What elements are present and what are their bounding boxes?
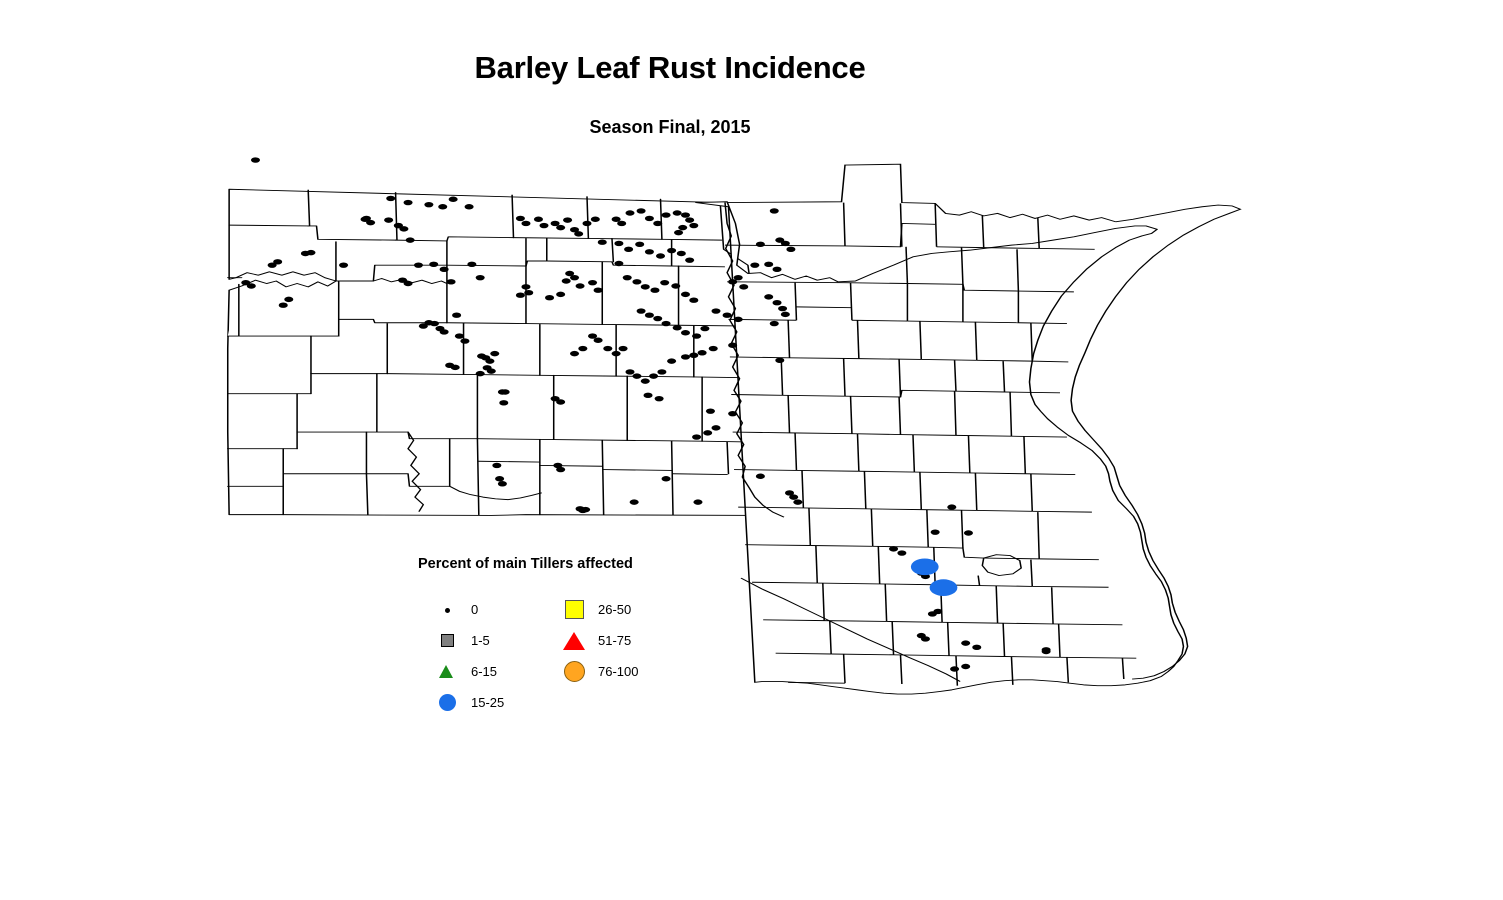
data-point-zero[interactable] xyxy=(581,507,590,512)
data-point-zero[interactable] xyxy=(635,242,644,247)
data-point-zero[interactable] xyxy=(578,346,587,351)
data-point-zero[interactable] xyxy=(524,290,533,295)
legend-item-51-75[interactable]: 51-75 xyxy=(563,625,638,656)
data-point-zero[interactable] xyxy=(574,231,583,236)
data-point-zero[interactable] xyxy=(588,280,597,285)
data-point-zero[interactable] xyxy=(498,481,507,486)
legend-item-label: 1-5 xyxy=(471,633,490,648)
data-point-zero[interactable] xyxy=(889,546,898,551)
data-point-zero[interactable] xyxy=(603,346,612,351)
data-point-zero[interactable] xyxy=(770,321,779,326)
data-point-zero[interactable] xyxy=(739,284,748,289)
data-point-zero[interactable] xyxy=(637,308,646,313)
data-point-15-25[interactable] xyxy=(911,558,939,575)
small-black-dot-icon xyxy=(436,597,462,623)
mn-county-line xyxy=(935,203,936,246)
data-point-zero[interactable] xyxy=(693,499,702,504)
data-point-zero[interactable] xyxy=(662,476,671,481)
data-point-zero[interactable] xyxy=(706,408,715,413)
data-point-zero[interactable] xyxy=(476,371,485,376)
data-point-zero[interactable] xyxy=(490,351,499,356)
data-point-zero[interactable] xyxy=(723,313,732,318)
data-point-zero[interactable] xyxy=(671,283,680,288)
data-point-zero[interactable] xyxy=(339,262,348,267)
data-point-zero[interactable] xyxy=(570,275,579,280)
data-point-zero[interactable] xyxy=(756,242,765,247)
data-point-zero[interactable] xyxy=(700,326,709,331)
page-subtitle: Season Final, 2015 xyxy=(0,117,1340,138)
data-point-zero[interactable] xyxy=(306,250,315,255)
lake-superior-shore xyxy=(1091,205,1241,339)
data-point-zero[interactable] xyxy=(950,666,959,671)
data-point-zero[interactable] xyxy=(734,317,743,322)
data-point-zero[interactable] xyxy=(645,216,654,221)
legend-item-26-50[interactable]: 26-50 xyxy=(563,594,638,625)
data-point-zero[interactable] xyxy=(662,321,671,326)
data-point-zero[interactable] xyxy=(778,306,787,311)
data-point-zero[interactable] xyxy=(650,287,659,292)
data-point-zero[interactable] xyxy=(649,373,658,378)
data-point-zero[interactable] xyxy=(404,281,413,286)
data-point-zero[interactable] xyxy=(1042,649,1051,654)
data-point-zero[interactable] xyxy=(786,247,795,252)
data-point-zero[interactable] xyxy=(775,358,784,363)
data-point-zero[interactable] xyxy=(588,333,597,338)
data-point-zero[interactable] xyxy=(438,204,447,209)
data-point-zero[interactable] xyxy=(487,368,496,373)
data-point-zero[interactable] xyxy=(657,369,666,374)
data-point-zero[interactable] xyxy=(711,425,720,430)
data-point-zero[interactable] xyxy=(476,275,485,280)
data-point-zero[interactable] xyxy=(366,220,375,225)
yellow-square-icon xyxy=(563,597,589,623)
data-point-zero[interactable] xyxy=(279,302,288,307)
data-point-zero[interactable] xyxy=(455,333,464,338)
legend-item-label: 0 xyxy=(471,602,478,617)
data-point-zero[interactable] xyxy=(770,208,779,213)
data-point-zero[interactable] xyxy=(384,217,393,222)
map-page: Barley Leaf Rust Incidence Season Final,… xyxy=(0,0,1503,900)
mn-county-line xyxy=(1032,361,1068,362)
data-point-zero[interactable] xyxy=(677,251,686,256)
data-point-zero[interactable] xyxy=(516,292,525,297)
data-point-zero[interactable] xyxy=(964,530,973,535)
map-county-layer xyxy=(228,189,1184,694)
data-point-zero[interactable] xyxy=(947,504,956,509)
legend-item-label: 26-50 xyxy=(598,602,631,617)
data-point-zero[interactable] xyxy=(673,210,682,215)
data-point-zero[interactable] xyxy=(251,157,260,162)
data-point-zero[interactable] xyxy=(516,216,525,221)
data-point-zero[interactable] xyxy=(556,225,565,230)
data-point-zero[interactable] xyxy=(625,210,634,215)
data-point-zero[interactable] xyxy=(931,529,940,534)
data-point-zero[interactable] xyxy=(591,217,600,222)
data-point-zero[interactable] xyxy=(781,241,790,246)
blue-circle-icon xyxy=(436,690,462,716)
data-point-zero[interactable] xyxy=(641,284,650,289)
data-point-zero[interactable] xyxy=(495,476,504,481)
data-point-zero[interactable] xyxy=(709,346,718,351)
data-point-zero[interactable] xyxy=(750,262,759,267)
legend-title: Percent of main Tillers affected xyxy=(418,556,633,572)
data-point-zero[interactable] xyxy=(619,346,628,351)
legend-column-left: 0 1-5 6-15 15-25 xyxy=(436,594,504,718)
data-point-zero[interactable] xyxy=(485,358,494,363)
data-point-zero[interactable] xyxy=(386,196,395,201)
data-point-zero[interactable] xyxy=(570,351,579,356)
data-point-zero[interactable] xyxy=(789,494,798,499)
mn-county-line xyxy=(982,215,983,248)
data-point-zero[interactable] xyxy=(764,294,773,299)
data-point-zero[interactable] xyxy=(674,230,683,235)
data-point-zero[interactable] xyxy=(477,353,486,358)
data-point-zero[interactable] xyxy=(624,247,633,252)
data-point-zero[interactable] xyxy=(756,474,765,479)
legend-item-label: 76-100 xyxy=(598,664,638,679)
data-point-zero[interactable] xyxy=(641,378,650,383)
data-point-zero[interactable] xyxy=(539,223,548,228)
data-point-zero[interactable] xyxy=(521,221,530,226)
data-point-zero[interactable] xyxy=(501,389,510,394)
data-point-zero[interactable] xyxy=(972,645,981,650)
data-point-zero[interactable] xyxy=(440,329,449,334)
map-canvas[interactable] xyxy=(200,140,1275,795)
data-point-zero[interactable] xyxy=(681,212,690,217)
data-point-zero[interactable] xyxy=(711,308,720,313)
data-point-zero[interactable] xyxy=(637,208,646,213)
data-point-zero[interactable] xyxy=(556,467,565,472)
data-point-zero[interactable] xyxy=(556,292,565,297)
data-point-zero[interactable] xyxy=(460,338,469,343)
data-point-zero[interactable] xyxy=(625,369,634,374)
data-point-zero[interactable] xyxy=(678,225,687,230)
data-point-zero[interactable] xyxy=(681,292,690,297)
data-point-zero[interactable] xyxy=(563,217,572,222)
legend: Percent of main Tillers affected 0 1-5 6… xyxy=(418,556,688,712)
data-point-zero[interactable] xyxy=(632,279,641,284)
legend-item-label: 6-15 xyxy=(471,664,497,679)
data-point-zero[interactable] xyxy=(451,365,460,370)
data-point-zero[interactable] xyxy=(465,204,474,209)
orange-circle-icon xyxy=(563,659,589,685)
data-point-zero[interactable] xyxy=(662,212,671,217)
data-point-zero[interactable] xyxy=(467,262,476,267)
legend-item-0[interactable]: 0 xyxy=(436,594,504,625)
data-point-zero[interactable] xyxy=(623,275,632,280)
data-point-zero[interactable] xyxy=(614,261,623,266)
data-point-zero[interactable] xyxy=(667,358,676,363)
legend-item-76-100[interactable]: 76-100 xyxy=(563,656,638,687)
data-point-zero[interactable] xyxy=(429,262,438,267)
data-point-zero[interactable] xyxy=(692,333,701,338)
data-point-zero[interactable] xyxy=(685,217,694,222)
legend-item-label: 51-75 xyxy=(598,633,631,648)
data-point-zero[interactable] xyxy=(247,283,256,288)
mn-county-line xyxy=(937,247,984,248)
data-point-zero[interactable] xyxy=(764,262,773,267)
red-triangle-icon xyxy=(563,628,589,654)
data-point-zero[interactable] xyxy=(703,430,712,435)
data-point-zero[interactable] xyxy=(594,287,603,292)
data-point-zero[interactable] xyxy=(449,197,458,202)
data-point-zero[interactable] xyxy=(897,550,906,555)
data-point-zero[interactable] xyxy=(685,257,694,262)
green-triangle-icon xyxy=(436,659,462,685)
legend-column-right: 26-50 51-75 76-100 xyxy=(563,594,638,687)
data-point-zero[interactable] xyxy=(689,223,698,228)
data-point-zero[interactable] xyxy=(921,636,930,641)
data-point-zero[interactable] xyxy=(614,241,623,246)
data-point-zero[interactable] xyxy=(689,353,698,358)
data-point-zero[interactable] xyxy=(406,237,415,242)
mn-north-border xyxy=(727,164,1115,222)
data-point-zero[interactable] xyxy=(667,248,676,253)
data-point-zero[interactable] xyxy=(773,267,782,272)
data-point-zero[interactable] xyxy=(653,221,662,226)
data-point-zero[interactable] xyxy=(521,284,530,289)
mn-county-line xyxy=(845,223,935,246)
data-point-zero[interactable] xyxy=(404,200,413,205)
legend-item-1-5[interactable]: 1-5 xyxy=(436,625,504,656)
data-point-zero[interactable] xyxy=(673,325,682,330)
data-point-zero[interactable] xyxy=(632,373,641,378)
data-point-zero[interactable] xyxy=(961,664,970,669)
data-point-zero[interactable] xyxy=(928,611,937,616)
page-title: Barley Leaf Rust Incidence xyxy=(0,50,1340,86)
data-point-zero[interactable] xyxy=(698,350,707,355)
legend-item-6-15[interactable]: 6-15 xyxy=(436,656,504,687)
data-point-zero[interactable] xyxy=(644,393,653,398)
data-point-zero[interactable] xyxy=(630,499,639,504)
data-point-zero[interactable] xyxy=(681,354,690,359)
data-point-zero[interactable] xyxy=(728,411,737,416)
data-point-zero[interactable] xyxy=(734,275,743,280)
data-point-zero[interactable] xyxy=(447,279,456,284)
data-point-zero[interactable] xyxy=(660,280,669,285)
data-point-zero[interactable] xyxy=(773,300,782,305)
map-svg[interactable] xyxy=(200,140,1275,795)
data-point-zero[interactable] xyxy=(551,396,560,401)
gray-square-icon xyxy=(436,628,462,654)
data-point-15-25[interactable] xyxy=(930,579,958,596)
legend-item-label: 15-25 xyxy=(471,695,504,710)
data-point-zero[interactable] xyxy=(399,226,408,231)
data-point-zero[interactable] xyxy=(645,249,654,254)
data-point-zero[interactable] xyxy=(534,217,543,222)
data-point-zero[interactable] xyxy=(781,312,790,317)
data-point-zero[interactable] xyxy=(617,221,626,226)
data-point-zero[interactable] xyxy=(961,640,970,645)
data-point-zero[interactable] xyxy=(689,297,698,302)
data-point-zero[interactable] xyxy=(414,262,423,267)
data-point-zero[interactable] xyxy=(424,202,433,207)
data-point-zero[interactable] xyxy=(499,400,508,405)
data-point-zero[interactable] xyxy=(728,343,737,348)
data-point-zero[interactable] xyxy=(692,434,701,439)
data-point-zero[interactable] xyxy=(793,499,802,504)
data-point-zero[interactable] xyxy=(681,330,690,335)
data-point-zero[interactable] xyxy=(440,267,449,272)
data-point-zero[interactable] xyxy=(645,313,654,318)
data-point-zero[interactable] xyxy=(656,253,665,258)
data-point-zero[interactable] xyxy=(273,259,282,264)
legend-item-15-25[interactable]: 15-25 xyxy=(436,687,504,718)
data-point-zero[interactable] xyxy=(419,323,428,328)
mn-county-line xyxy=(844,203,845,246)
data-point-zero[interactable] xyxy=(284,297,293,302)
data-point-zero[interactable] xyxy=(582,221,591,226)
data-point-zero[interactable] xyxy=(492,463,501,468)
data-point-zero[interactable] xyxy=(562,278,571,283)
data-point-zero[interactable] xyxy=(598,240,607,245)
data-point-zero[interactable] xyxy=(452,313,461,318)
data-point-zero[interactable] xyxy=(655,396,664,401)
data-point-zero[interactable] xyxy=(576,283,585,288)
data-point-zero[interactable] xyxy=(653,316,662,321)
data-point-zero[interactable] xyxy=(612,351,621,356)
data-point-zero[interactable] xyxy=(545,295,554,300)
